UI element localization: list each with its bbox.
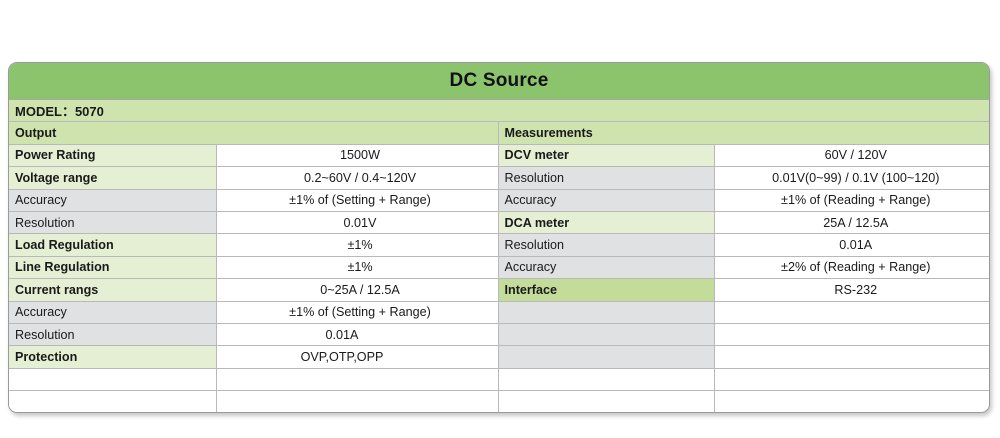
table-row: Line Regulation±1%Accuracy±2% of (Readin… <box>9 256 990 278</box>
table-row: Power Rating1500WDCV meter60V / 120V <box>9 144 990 166</box>
row-label-empty <box>498 346 714 368</box>
row-value: ±1% of (Reading + Range) <box>714 189 990 211</box>
table-row-model: MODEL：5070 <box>9 100 990 122</box>
row-value: 60V / 120V <box>714 144 990 166</box>
row-label: Resolution <box>498 167 714 189</box>
table-row: Resolution0.01VDCA meter25A / 12.5A <box>9 211 990 233</box>
row-label: Interface <box>498 279 714 301</box>
row-value-empty <box>714 301 990 323</box>
row-value: RS-232 <box>714 279 990 301</box>
row-label: Resolution <box>9 211 216 233</box>
row-value: 0~25A / 12.5A <box>216 279 498 301</box>
row-value: 25A / 12.5A <box>714 211 990 233</box>
row-label: Voltage range <box>9 167 216 189</box>
row-value: ±1% <box>216 234 498 256</box>
table-row: Current rangs0~25A / 12.5AInterfaceRS-23… <box>9 279 990 301</box>
row-value: 0.01A <box>714 234 990 256</box>
row-label: Resolution <box>498 234 714 256</box>
row-label-empty <box>9 391 216 413</box>
row-label: Accuracy <box>498 256 714 278</box>
row-label-empty <box>498 323 714 345</box>
row-label: Accuracy <box>9 301 216 323</box>
row-label-empty <box>9 368 216 390</box>
row-label: DCA meter <box>498 211 714 233</box>
row-value-empty <box>714 368 990 390</box>
row-label: Accuracy <box>9 189 216 211</box>
row-label-empty <box>498 391 714 413</box>
row-label: DCV meter <box>498 144 714 166</box>
row-label: Current rangs <box>9 279 216 301</box>
table-row: Resolution0.01A <box>9 323 990 345</box>
row-value: 0.2~60V / 0.4~120V <box>216 167 498 189</box>
row-label: Accuracy <box>498 189 714 211</box>
row-label-empty <box>498 301 714 323</box>
table-row <box>9 368 990 390</box>
page-title: DC Source <box>9 63 989 100</box>
row-value: 0.01V <box>216 211 498 233</box>
row-value-empty <box>216 391 498 413</box>
row-value-empty <box>714 346 990 368</box>
row-label: Power Rating <box>9 144 216 166</box>
model-label: MODEL：5070 <box>9 100 990 122</box>
table-row <box>9 391 990 413</box>
row-value: OVP,OTP,OPP <box>216 346 498 368</box>
table-row: Voltage range0.2~60V / 0.4~120VResolutio… <box>9 167 990 189</box>
table-row: Load Regulation±1%Resolution0.01A <box>9 234 990 256</box>
row-value-empty <box>714 391 990 413</box>
row-value: 0.01V(0~99) / 0.1V (100~120) <box>714 167 990 189</box>
row-value: ±1% of (Setting + Range) <box>216 189 498 211</box>
row-value: 0.01A <box>216 323 498 345</box>
dc-source-spec-card: DC Source MODEL：5070 Output Measurements… <box>8 62 990 413</box>
table-row: ProtectionOVP,OTP,OPP <box>9 346 990 368</box>
row-value: 1500W <box>216 144 498 166</box>
row-label: Protection <box>9 346 216 368</box>
row-value-empty <box>216 368 498 390</box>
section-header-output: Output <box>9 122 498 144</box>
spec-card-body: DC Source MODEL：5070 Output Measurements… <box>8 62 990 413</box>
row-label: Line Regulation <box>9 256 216 278</box>
specification-table: MODEL：5070 Output Measurements Power Rat… <box>9 100 990 412</box>
table-row: Accuracy±1% of (Setting + Range)Accuracy… <box>9 189 990 211</box>
spec-table-body: MODEL：5070 Output Measurements Power Rat… <box>9 100 990 412</box>
row-value: ±1% of (Setting + Range) <box>216 301 498 323</box>
row-label: Resolution <box>9 323 216 345</box>
row-label-empty <box>498 368 714 390</box>
table-row: Accuracy±1% of (Setting + Range) <box>9 301 990 323</box>
row-label: Load Regulation <box>9 234 216 256</box>
row-value-empty <box>714 323 990 345</box>
row-value: ±1% <box>216 256 498 278</box>
section-header-measurements: Measurements <box>498 122 990 144</box>
row-value: ±2% of (Reading + Range) <box>714 256 990 278</box>
table-row-section-headers: Output Measurements <box>9 122 990 144</box>
